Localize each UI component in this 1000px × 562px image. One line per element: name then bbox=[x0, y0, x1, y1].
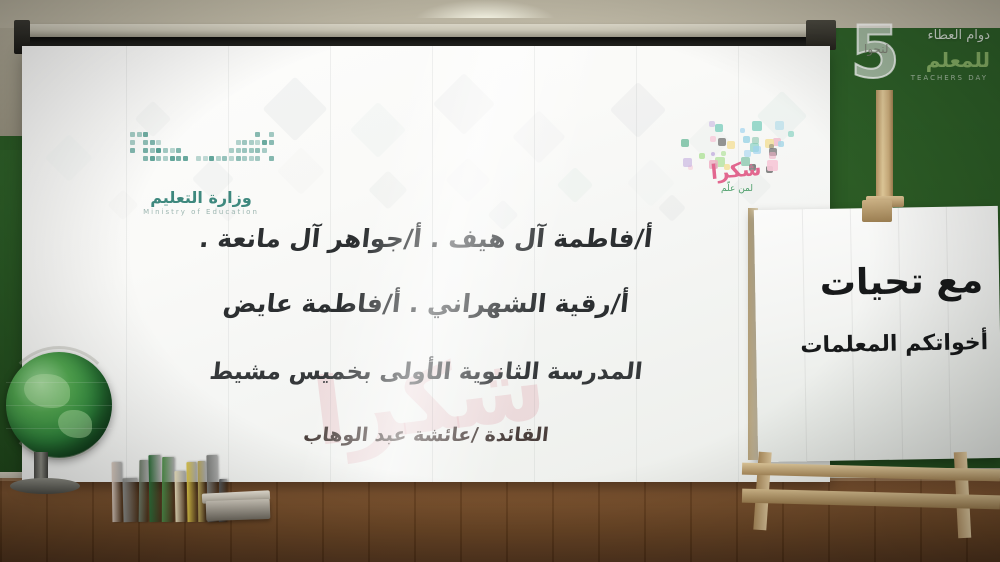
screen-fold-line bbox=[126, 46, 127, 482]
globe-base bbox=[10, 478, 80, 494]
book bbox=[174, 471, 186, 522]
screen-fold-line bbox=[534, 46, 535, 482]
flip-chart-line-1: مع تحيات bbox=[819, 260, 983, 304]
screen-light-sheen bbox=[22, 46, 830, 482]
projector-screen: وزارة التعليم Ministry of Education شكرا… bbox=[22, 46, 830, 482]
screen-fold-line bbox=[330, 46, 331, 482]
flip-chart-paper: مع تحيات أخواتكم المعلمات bbox=[754, 206, 1000, 462]
screen-fold-line bbox=[738, 46, 739, 482]
book bbox=[139, 460, 149, 522]
book bbox=[148, 455, 161, 522]
flip-chart-line-2: أخواتكم المعلمات bbox=[800, 330, 988, 358]
watermark-line-3: TEACHERS DAY bbox=[911, 74, 988, 82]
screen-fold-line bbox=[636, 46, 637, 482]
flip-chart-clip bbox=[862, 200, 892, 222]
book bbox=[122, 478, 138, 522]
globe-meridian-ring bbox=[2, 346, 116, 460]
broadcast-watermark: دوام العطاء للمعلم TEACHERS DAY 5 لنحوا bbox=[846, 12, 998, 90]
watermark-line-2: للمعلم bbox=[926, 48, 990, 72]
screenshot-root: وزارة التعليم Ministry of Education شكرا… bbox=[0, 0, 1000, 562]
roller-shadow bbox=[18, 37, 834, 46]
book bbox=[112, 462, 123, 522]
book bbox=[186, 462, 197, 522]
book bbox=[198, 461, 207, 522]
stacked-book-upper bbox=[206, 499, 271, 521]
watermark-line-1: دوام العطاء bbox=[928, 28, 990, 43]
projector-screen-roller bbox=[18, 24, 834, 37]
watermark-inner-word: لنحوا bbox=[864, 42, 889, 56]
screen-fold-line bbox=[432, 46, 433, 482]
ceiling-light-glare bbox=[415, 0, 555, 18]
book bbox=[162, 457, 174, 522]
screen-fold-line bbox=[228, 46, 229, 482]
